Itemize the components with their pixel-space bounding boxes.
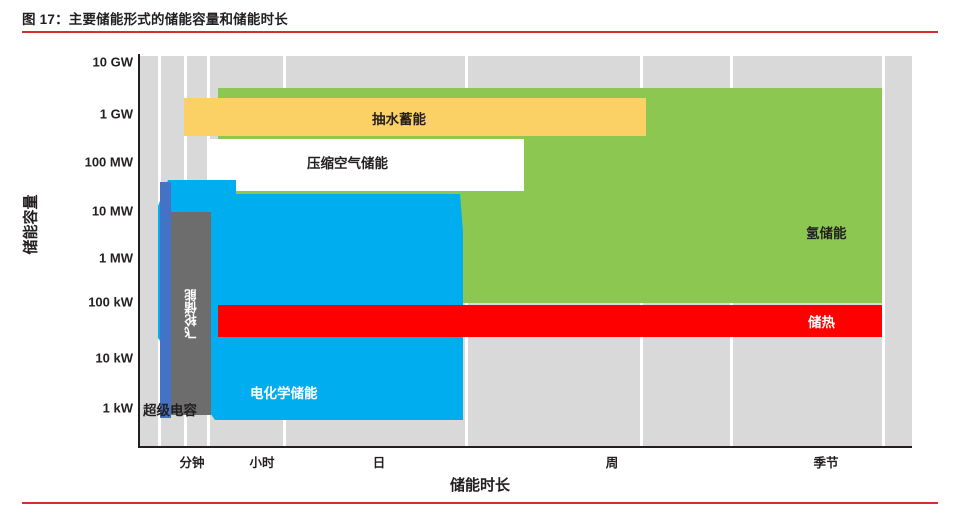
region-supercapacitor[interactable] — [160, 182, 171, 418]
region-label-flywheel-storage: 飞轮储能 — [182, 289, 201, 339]
x-axis-title: 储能时长 — [0, 474, 960, 495]
y-tick-1gw: 1 GW — [1, 107, 133, 122]
y-tick-1kw: 1 kW — [1, 401, 133, 416]
x-tick-hours: 小时 — [249, 452, 274, 471]
title-divider — [22, 31, 938, 33]
plot-area: 氢储能 抽水蓄能 压缩空气储能 电化学储能 储热 飞轮储能 — [140, 56, 912, 446]
region-flywheel-storage[interactable]: 飞轮储能 — [171, 212, 211, 415]
region-label-compressed-air: 压缩空气储能 — [307, 152, 388, 172]
title-bar: 图 17：主要储能形式的储能容量和储能时长 — [0, 0, 960, 34]
x-tick-seasons: 季节 — [813, 452, 838, 471]
x-tick-minutes: 分钟 — [179, 452, 204, 471]
chart-figure: 储能容量 10 GW 1 GW 100 MW 10 MW 1 MW 100 kW… — [0, 34, 960, 496]
region-label-pumped-hydro: 抽水蓄能 — [372, 108, 426, 128]
region-label-electrochemical-storage: 电化学储能 — [250, 382, 318, 402]
y-axis-tick-labels: 10 GW 1 GW 100 MW 10 MW 1 MW 100 kW 10 k… — [0, 34, 133, 496]
y-tick-10gw: 10 GW — [1, 55, 133, 70]
region-label-supercapacitor: 超级电容 — [143, 399, 197, 419]
region-label-hydrogen-storage: 氢储能 — [806, 222, 847, 242]
y-tick-10mw: 10 MW — [1, 204, 133, 219]
y-tick-10kw: 10 kW — [1, 351, 133, 366]
y-tick-100kw: 100 kW — [1, 295, 133, 310]
x-axis-line — [138, 446, 912, 448]
x-tick-weeks: 周 — [606, 452, 619, 471]
y-tick-1mw: 1 MW — [1, 251, 133, 266]
y-axis-line — [138, 54, 140, 448]
region-thermal-storage[interactable] — [218, 305, 882, 337]
x-tick-days: 日 — [373, 452, 386, 471]
footer-divider — [22, 502, 938, 504]
region-label-thermal-storage: 储热 — [808, 311, 835, 331]
gridline-8 — [882, 56, 885, 446]
page-title: 图 17：主要储能形式的储能容量和储能时长 — [22, 8, 288, 28]
y-tick-100mw: 100 MW — [1, 155, 133, 170]
